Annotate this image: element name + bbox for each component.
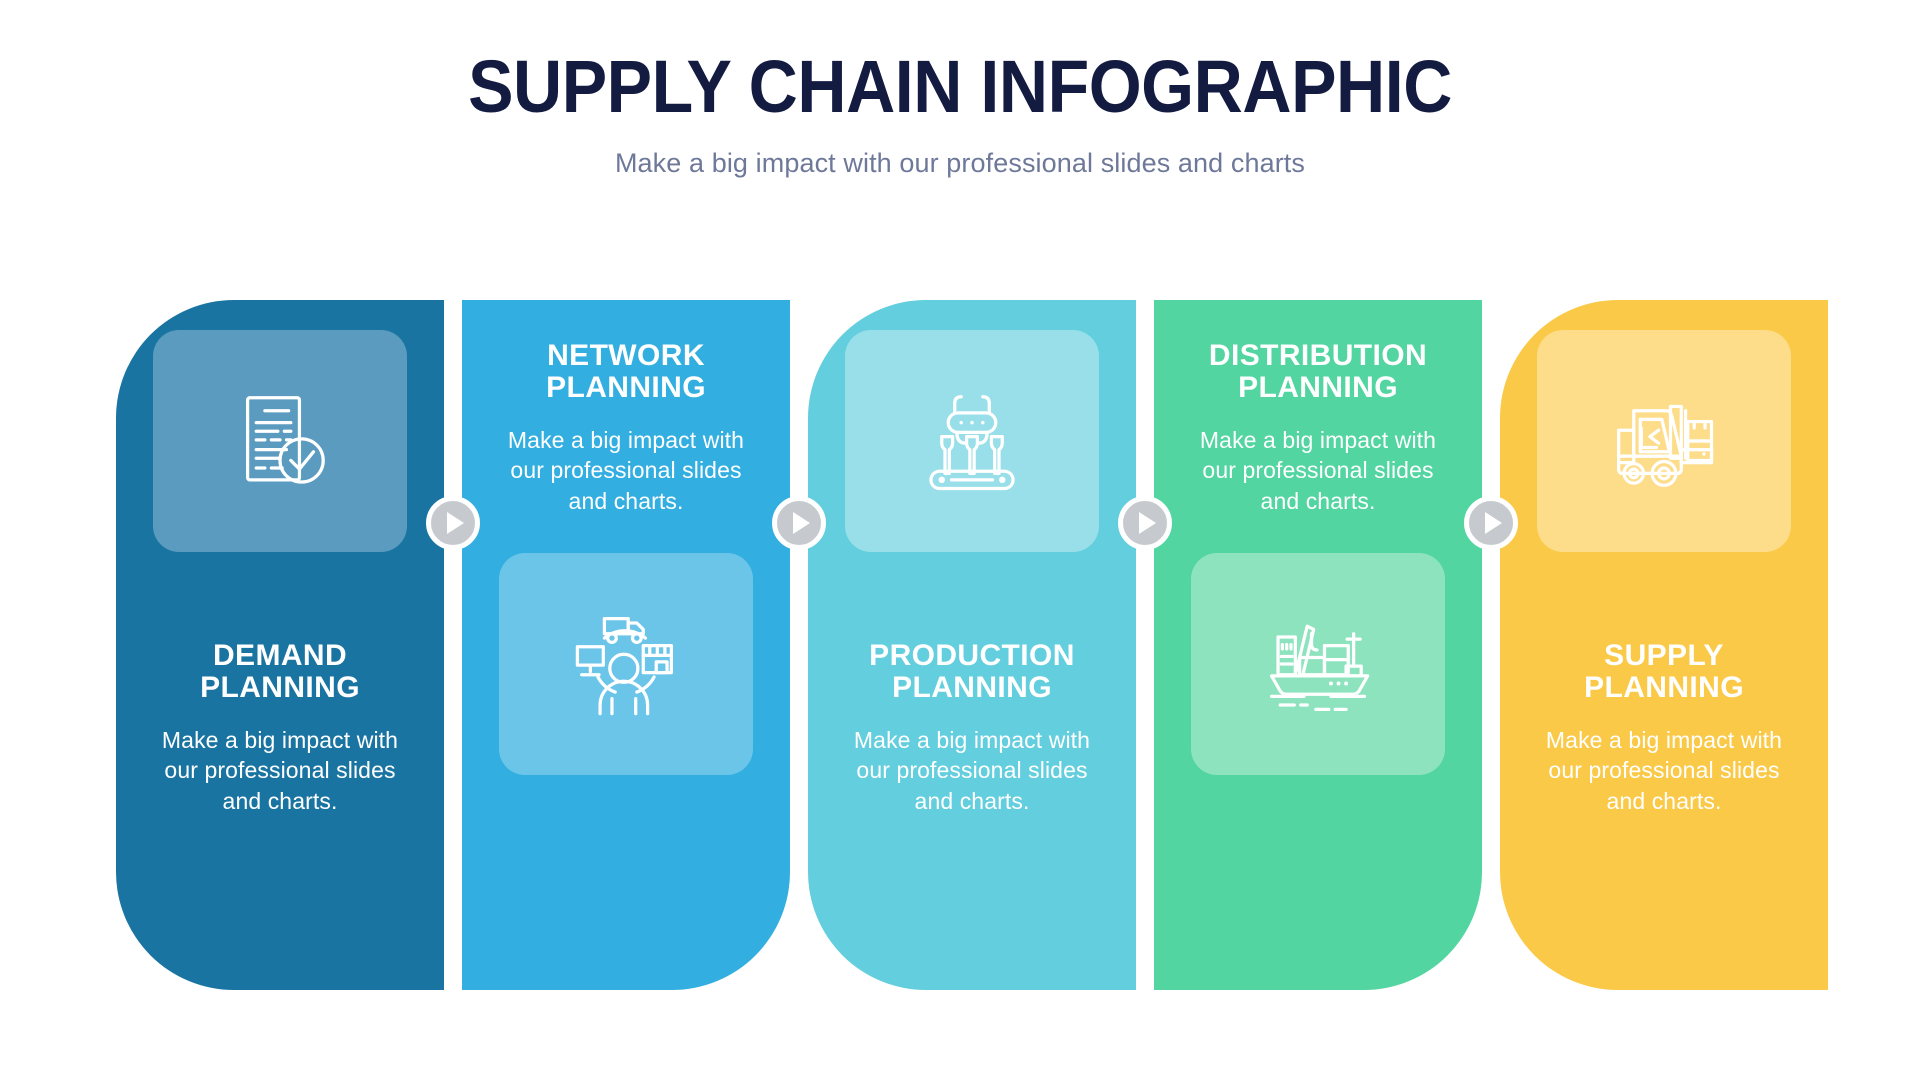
card-5[interactable]: SUPPLY PLANNINGMake a big impact with ou…	[1500, 300, 1828, 990]
cargo-ship-crane-icon	[1264, 610, 1372, 718]
card-text-block: SUPPLY PLANNINGMake a big impact with ou…	[1526, 640, 1802, 817]
card-4[interactable]: DISTRIBUTION PLANNINGMake a big impact w…	[1154, 300, 1482, 990]
card-content: NETWORK PLANNINGMake a big impact with o…	[462, 300, 790, 990]
card-background: NETWORK PLANNINGMake a big impact with o…	[462, 300, 790, 990]
card-text-block: DISTRIBUTION PLANNINGMake a big impact w…	[1180, 340, 1456, 517]
card-content: PRODUCTION PLANNINGMake a big impact wit…	[808, 300, 1136, 990]
play-triangle-icon	[1480, 512, 1502, 534]
card-title: DISTRIBUTION PLANNING	[1180, 340, 1456, 405]
document-check-icon	[226, 387, 334, 495]
bottling-conveyor-icon	[918, 387, 1026, 495]
header: SUPPLY CHAIN INFOGRAPHIC Make a big impa…	[0, 48, 1920, 179]
card-3[interactable]: PRODUCTION PLANNINGMake a big impact wit…	[808, 300, 1136, 990]
card-title: NETWORK PLANNING	[488, 340, 764, 405]
icon-tile	[153, 330, 407, 552]
card-strip: DEMAND PLANNINGMake a big impact with ou…	[116, 300, 1828, 990]
card-description: Make a big impact with our professional …	[1180, 425, 1456, 517]
card-text-block: PRODUCTION PLANNINGMake a big impact wit…	[834, 640, 1110, 817]
card-description: Make a big impact with our professional …	[834, 725, 1110, 817]
step-connector-2[interactable]	[772, 496, 826, 550]
play-triangle-icon	[1134, 512, 1156, 534]
step-connector-3[interactable]	[1118, 496, 1172, 550]
step-connector-4[interactable]	[1464, 496, 1518, 550]
card-title: DEMAND PLANNING	[142, 640, 418, 705]
icon-tile	[1537, 330, 1791, 552]
card-text-block: DEMAND PLANNINGMake a big impact with ou…	[142, 640, 418, 817]
play-triangle-icon	[442, 512, 464, 534]
card-description: Make a big impact with our professional …	[488, 425, 764, 517]
infographic-page: SUPPLY CHAIN INFOGRAPHIC Make a big impa…	[0, 0, 1920, 1080]
network-person-truck-store-icon	[572, 610, 680, 718]
step-connector-1[interactable]	[426, 496, 480, 550]
card-text-block: NETWORK PLANNINGMake a big impact with o…	[488, 340, 764, 517]
play-triangle-icon	[788, 512, 810, 534]
icon-tile	[499, 553, 753, 775]
page-subtitle: Make a big impact with our professional …	[0, 148, 1920, 179]
card-background: PRODUCTION PLANNINGMake a big impact wit…	[808, 300, 1136, 990]
card-title: SUPPLY PLANNING	[1526, 640, 1802, 705]
card-title: PRODUCTION PLANNING	[834, 640, 1110, 705]
card-2[interactable]: NETWORK PLANNINGMake a big impact with o…	[462, 300, 790, 990]
card-background: DISTRIBUTION PLANNINGMake a big impact w…	[1154, 300, 1482, 990]
icon-tile	[845, 330, 1099, 552]
icon-tile	[1191, 553, 1445, 775]
card-background: DEMAND PLANNINGMake a big impact with ou…	[116, 300, 444, 990]
card-description: Make a big impact with our professional …	[142, 725, 418, 817]
card-content: DISTRIBUTION PLANNINGMake a big impact w…	[1154, 300, 1482, 990]
forklift-icon	[1610, 387, 1718, 495]
card-content: DEMAND PLANNINGMake a big impact with ou…	[116, 300, 444, 990]
card-background: SUPPLY PLANNINGMake a big impact with ou…	[1500, 300, 1828, 990]
page-title: SUPPLY CHAIN INFOGRAPHIC	[77, 48, 1843, 126]
card-description: Make a big impact with our professional …	[1526, 725, 1802, 817]
card-1[interactable]: DEMAND PLANNINGMake a big impact with ou…	[116, 300, 444, 990]
card-content: SUPPLY PLANNINGMake a big impact with ou…	[1500, 300, 1828, 990]
